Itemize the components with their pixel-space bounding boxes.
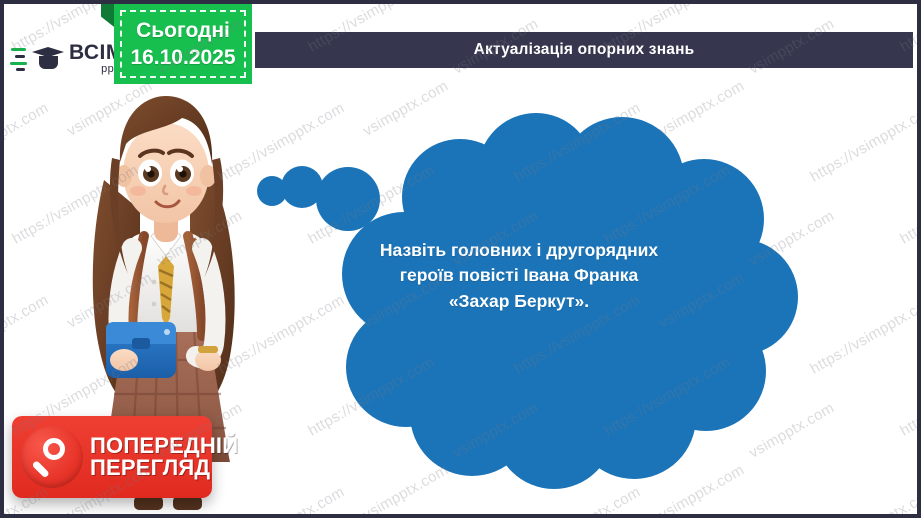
presentation-slide: Назвіть головних і другорядних героїв по… — [0, 0, 921, 518]
date-badge: Сьогодні 16.10.2025 — [114, 4, 252, 84]
watermark-text: https://vsimpptx.com — [807, 291, 917, 377]
watermark-text: https://vsimpptx.com — [897, 353, 917, 439]
slide-canvas: Назвіть головних і другорядних героїв по… — [4, 4, 917, 514]
thought-bubble-tail — [257, 166, 380, 231]
site-logo[interactable]: ВСІМ pptx — [4, 32, 116, 84]
bubble-line-2: героїв повісті Івана Франка — [359, 263, 679, 288]
preview-badge-text: ПОПЕРЕДНІЙ ПЕРЕГЛЯД — [90, 435, 238, 480]
bubble-line-3: «Захар Беркут». — [359, 289, 679, 314]
graduation-cap-icon — [32, 41, 66, 75]
preview-badge[interactable]: ПОПЕРЕДНІЙ ПЕРЕГЛЯД — [12, 416, 212, 498]
watermark-text: https://vsimpptx.com — [4, 291, 51, 377]
watermark-text: https://vsimpptx.com — [807, 99, 917, 185]
date-badge-label: Сьогодні — [136, 19, 230, 42]
preview-badge-line-1: ПОПЕРЕДНІЙ — [90, 435, 238, 457]
watermark-text: https://vsimpptx.com — [807, 483, 917, 514]
magnifier-icon — [21, 426, 83, 488]
thought-bubble-text: Назвіть головних і другорядних героїв по… — [359, 238, 679, 314]
page-title: Актуалізація опорних знань — [474, 41, 695, 59]
bubble-line-1: Назвіть головних і другорядних — [359, 238, 679, 263]
date-badge-value: 16.10.2025 — [130, 46, 235, 69]
watermark-text: https://vsimpptx.com — [4, 99, 51, 185]
preview-badge-line-2: ПЕРЕГЛЯД — [90, 457, 238, 479]
section-title-bar: Актуалізація опорних знань — [255, 32, 913, 68]
watermark-text: https://vsimpptx.com — [511, 483, 643, 514]
watermark-text: https://vsimpptx.com — [897, 161, 917, 247]
